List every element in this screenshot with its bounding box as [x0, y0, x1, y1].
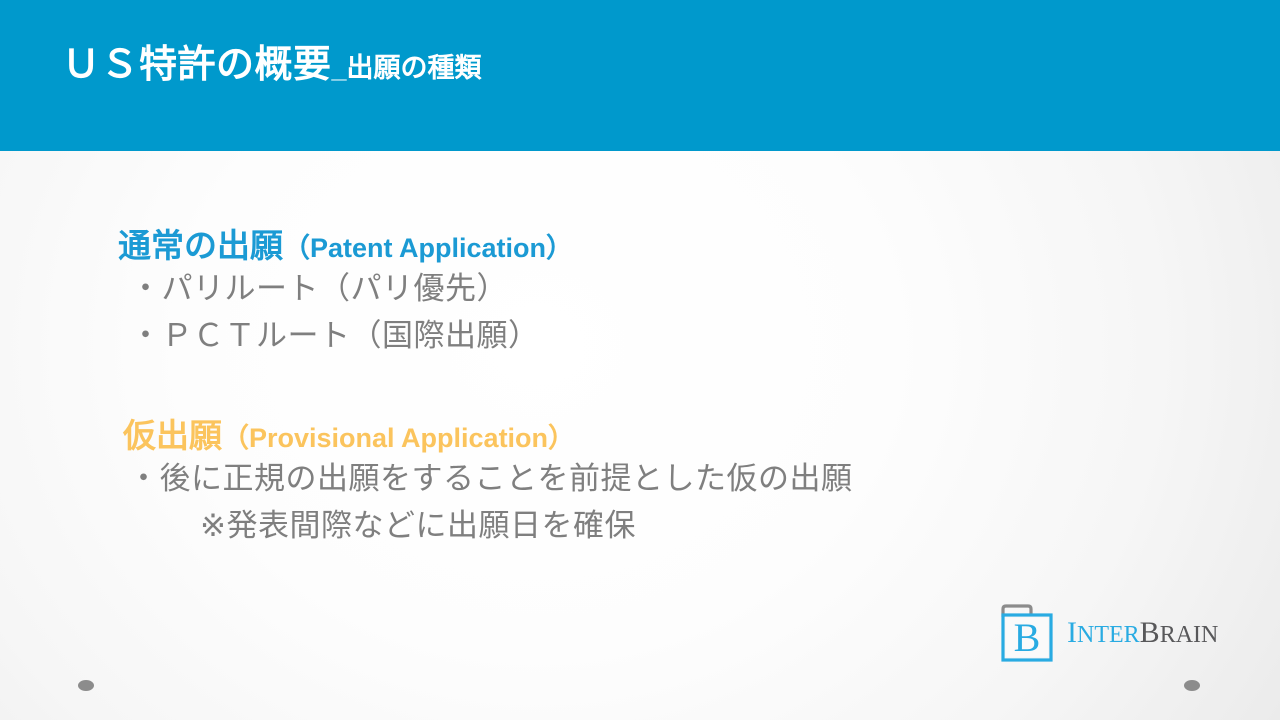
bullet-list-normal-application: ・パリルート（パリ優先） ・ＰＣＴルート（国際出願）	[118, 266, 573, 359]
interbrain-logo-mark-icon: B	[998, 604, 1058, 662]
section-heading-en: （Patent Application）	[283, 233, 573, 263]
section-heading-provisional-application: 仮出願（Provisional Application）	[118, 419, 853, 452]
list-item-note: ※発表間際などに出願日を確保	[128, 503, 853, 550]
section-heading-en: （Provisional Application）	[222, 423, 575, 453]
logo-word-brain: BRAIN	[1140, 629, 1219, 646]
slide-title-main: ＵＳ特許の概要	[62, 46, 332, 86]
list-item: ・ＰＣＴルート（国際出願）	[130, 313, 573, 360]
section-heading-normal-application: 通常の出願（Patent Application）	[118, 229, 573, 262]
section-heading-jp: 通常の出願	[118, 227, 283, 264]
corner-dot-left-icon	[78, 680, 94, 691]
section-normal-application: 通常の出願（Patent Application） ・パリルート（パリ優先） ・…	[118, 229, 573, 359]
logo-word-inter: INTER	[1067, 629, 1140, 646]
interbrain-logo-wordmark: INTERBRAIN	[1067, 618, 1218, 648]
slide-title-subtitle: _出願の種類	[332, 54, 482, 82]
slide-canvas: ＵＳ特許の概要 _出願の種類 通常の出願（Patent Application）…	[0, 0, 1280, 720]
list-item: ・パリルート（パリ優先）	[130, 266, 573, 313]
section-provisional-application: 仮出願（Provisional Application） ・後に正規の出願をする…	[118, 419, 853, 549]
slide-title: ＵＳ特許の概要 _出願の種類	[62, 46, 482, 86]
interbrain-logo: B INTERBRAIN	[998, 602, 1218, 664]
list-item: ・後に正規の出願をすることを前提とした仮の出願	[128, 456, 853, 503]
corner-dot-right-icon	[1184, 680, 1200, 691]
svg-text:B: B	[1014, 615, 1041, 660]
section-heading-jp: 仮出願	[123, 417, 222, 454]
bullet-list-provisional-application: ・後に正規の出願をすることを前提とした仮の出願 ※発表間際などに出願日を確保	[118, 456, 853, 549]
slide-header-band: ＵＳ特許の概要 _出願の種類	[0, 0, 1280, 151]
